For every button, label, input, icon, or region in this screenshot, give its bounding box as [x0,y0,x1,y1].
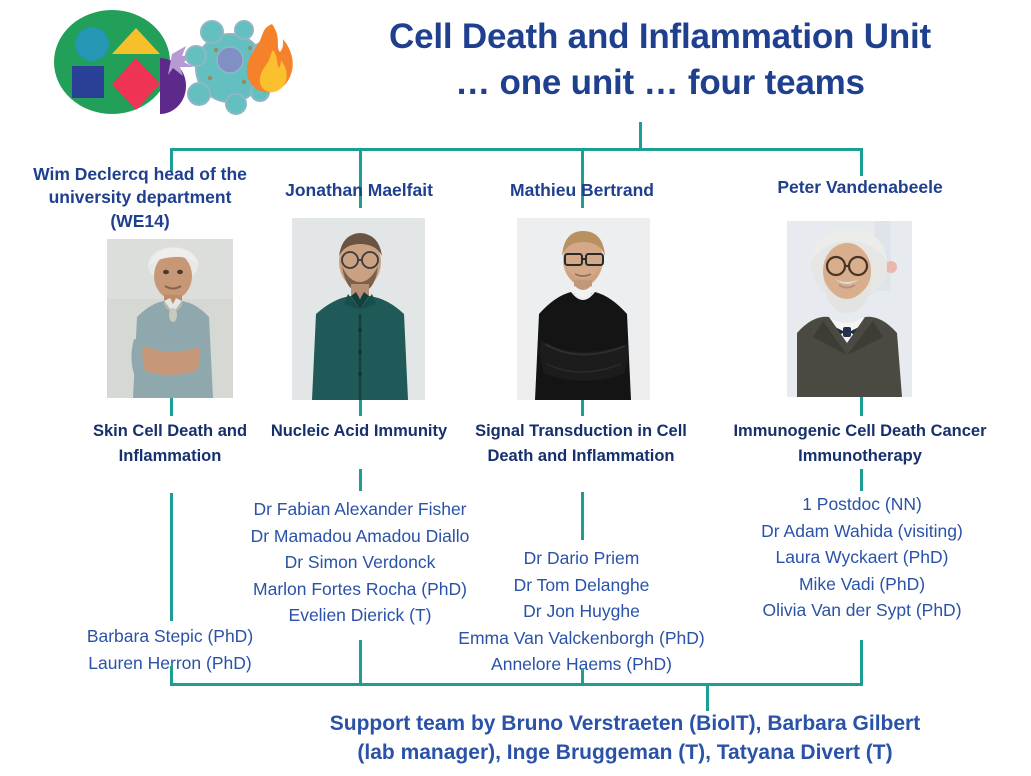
member-2-0: Dr Fabian Alexander Fisher [219,496,501,523]
member-3-0: Dr Dario Priem [439,545,724,572]
leader-name-3: Mathieu Bertrand [472,179,692,202]
title-line-1: Cell Death and Inflammation Unit [300,14,1020,60]
team-1-title-line-3: Inflammation [119,447,222,465]
leader-name-4: Peter Vandenabeele [735,176,985,199]
members-list-3: Dr Dario Priem Dr Tom Delanghe Dr Jon Hu… [439,545,724,678]
leader-3-line-1: Mathieu Bertrand [510,180,654,200]
member-4-2: Laura Wyckaert (PhD) [740,544,984,571]
leader-2-line-1: Jonathan Maelfait [285,180,433,200]
leader-name-2: Jonathan Maelfait [249,179,469,202]
members-list-4: 1 Postdoc (NN) Dr Adam Wahida (visiting)… [740,491,984,624]
connector-photo-drop-2 [359,400,362,416]
member-3-1: Dr Tom Delanghe [439,572,724,599]
team-2-title-line-1: Nucleic Acid [271,422,369,440]
support-line-2: (lab manager), Inge Bruggeman (T), Tatya… [215,739,1031,768]
page-title: Cell Death and Inflammation Unit … one u… [300,14,1020,105]
team-3-title-line-1: Signal Transduction in [475,422,652,440]
team-title-2: Nucleic Acid Immunity [259,419,459,444]
connector-top-stem [639,122,642,150]
connector-photo-drop-3 [581,400,584,416]
connector-top-bar [170,148,863,151]
connector-team-drop-2 [359,469,362,491]
connector-bottom-riser-4 [860,640,863,686]
photo-wim-declercq [107,239,233,398]
org-chart-slide: Cell Death and Inflammation Unit … one u… [0,0,1031,776]
connector-team-drop-1 [170,493,173,621]
leader-4-line-1: Peter Vandenabeele [777,177,942,197]
member-4-3: Mike Vadi (PhD) [740,571,984,598]
member-4-4: Olivia Van der Sypt (PhD) [740,597,984,624]
connector-photo-drop-4 [860,397,863,416]
team-title-4: Immunogenic Cell Death Cancer Immunother… [725,419,995,469]
team-4-title-line-1: Immunogenic Cell Death [733,422,926,440]
cell-death-inflammation-unit-logo [44,8,304,120]
member-4-0: 1 Postdoc (NN) [740,491,984,518]
team-title-1: Skin Cell Death and Inflammation [60,419,280,469]
connector-bottom-stem [706,683,709,711]
connector-bottom-bar [170,683,863,686]
photo-jonathan-maelfait [292,218,425,400]
title-line-2: … one unit … four teams [300,60,1020,106]
member-3-2: Dr Jon Huyghe [439,598,724,625]
connector-top-drop-4 [860,148,863,176]
photo-mathieu-bertrand [517,218,650,400]
support-team-text: Support team by Bruno Verstraeten (BioIT… [215,710,1031,768]
photo-peter-vandenabeele [787,221,912,397]
team-1-title-line-1: Skin Cell Death [93,422,213,440]
connector-team-drop-4 [860,469,863,491]
leader-name-1: Wim Declercq head of the university depa… [20,163,260,233]
connector-bottom-riser-2 [359,640,362,686]
member-4-1: Dr Adam Wahida (visiting) [740,518,984,545]
support-line-1: Support team by Bruno Verstraeten (BioIT… [215,710,1031,739]
member-3-3: Emma Van Valckenborgh (PhD) [439,625,724,652]
connector-photo-drop-1 [170,398,173,416]
connector-team-drop-3 [581,492,584,540]
team-1-title-line-2: and [218,422,247,440]
team-2-title-line-2: Immunity [374,422,447,440]
leader-1-line-1: Wim Declercq [33,164,149,184]
team-title-3: Signal Transduction in Cell Death and In… [466,419,696,469]
team-3-title-line-3: Inflammation [572,447,675,465]
